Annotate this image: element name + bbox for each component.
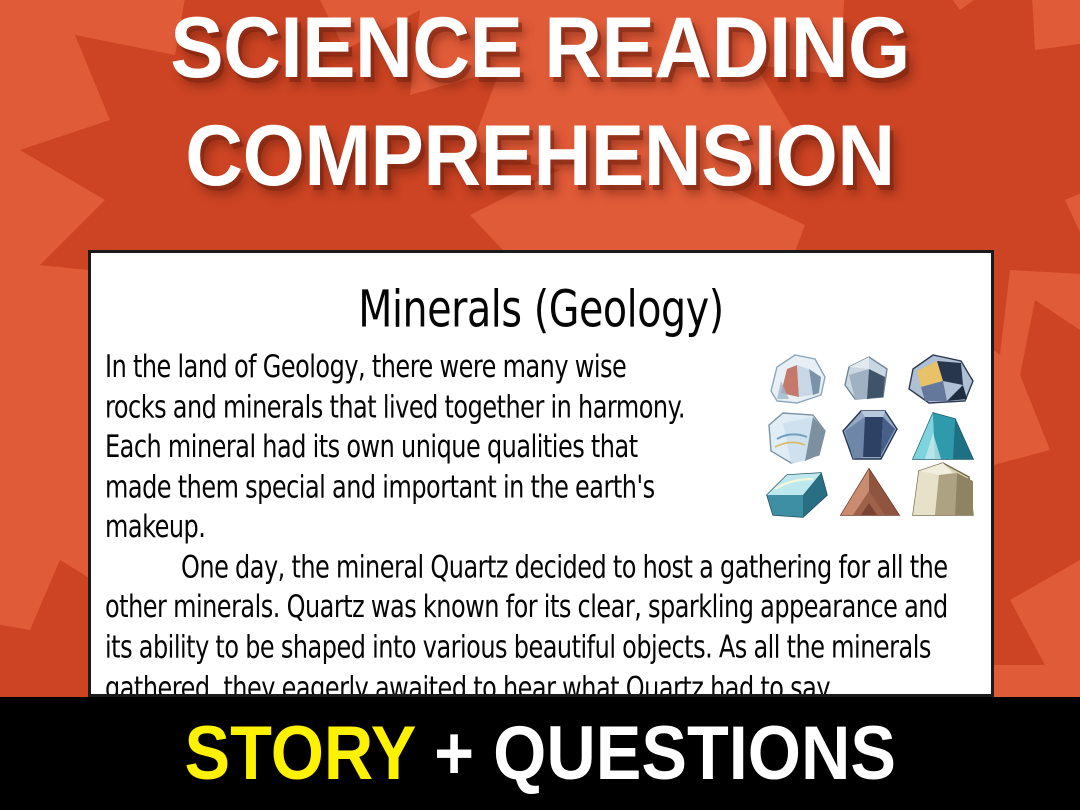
gem-teal-crystal [913, 413, 973, 459]
banner-questions-label: QUESTIONS [493, 711, 896, 796]
banner-text: STORY + QUESTIONS [184, 716, 895, 792]
poster-heading: SCIENCE READING COMPREHENSION [0, 6, 1080, 199]
worksheet-paragraph-2: One day, the mineral Quartz decided to h… [105, 549, 957, 697]
heading-line-2: COMPREHENSION [38, 114, 1042, 198]
mineral-crystals-illustration [757, 347, 985, 527]
gem-copper-pyramid [841, 469, 899, 515]
worksheet-paragraph-1: In the land of Geology, there were many … [105, 348, 689, 549]
gem-deep-blue-gem [843, 411, 897, 459]
gem-beige-mineral [913, 463, 973, 515]
heading-line-1: SCIENCE READING [38, 6, 1042, 90]
gem-aqua-slab [767, 473, 827, 517]
gem-navy-gold-cluster [909, 355, 973, 403]
banner-story-label: STORY [184, 711, 415, 796]
poster-canvas: SCIENCE READING COMPREHENSION Minerals (… [0, 0, 1080, 810]
worksheet-content: Minerals (Geology) [91, 253, 991, 694]
gem-pale-blue-chunk [769, 413, 825, 463]
gem-white-blue-nugget [771, 355, 825, 403]
worksheet-preview-card: Minerals (Geology) [88, 250, 994, 697]
gem-grey-blue-diamond [845, 357, 887, 399]
worksheet-title: Minerals (Geology) [157, 283, 924, 336]
bottom-banner: STORY + QUESTIONS [0, 697, 1080, 810]
banner-plus-label: + [415, 711, 493, 796]
